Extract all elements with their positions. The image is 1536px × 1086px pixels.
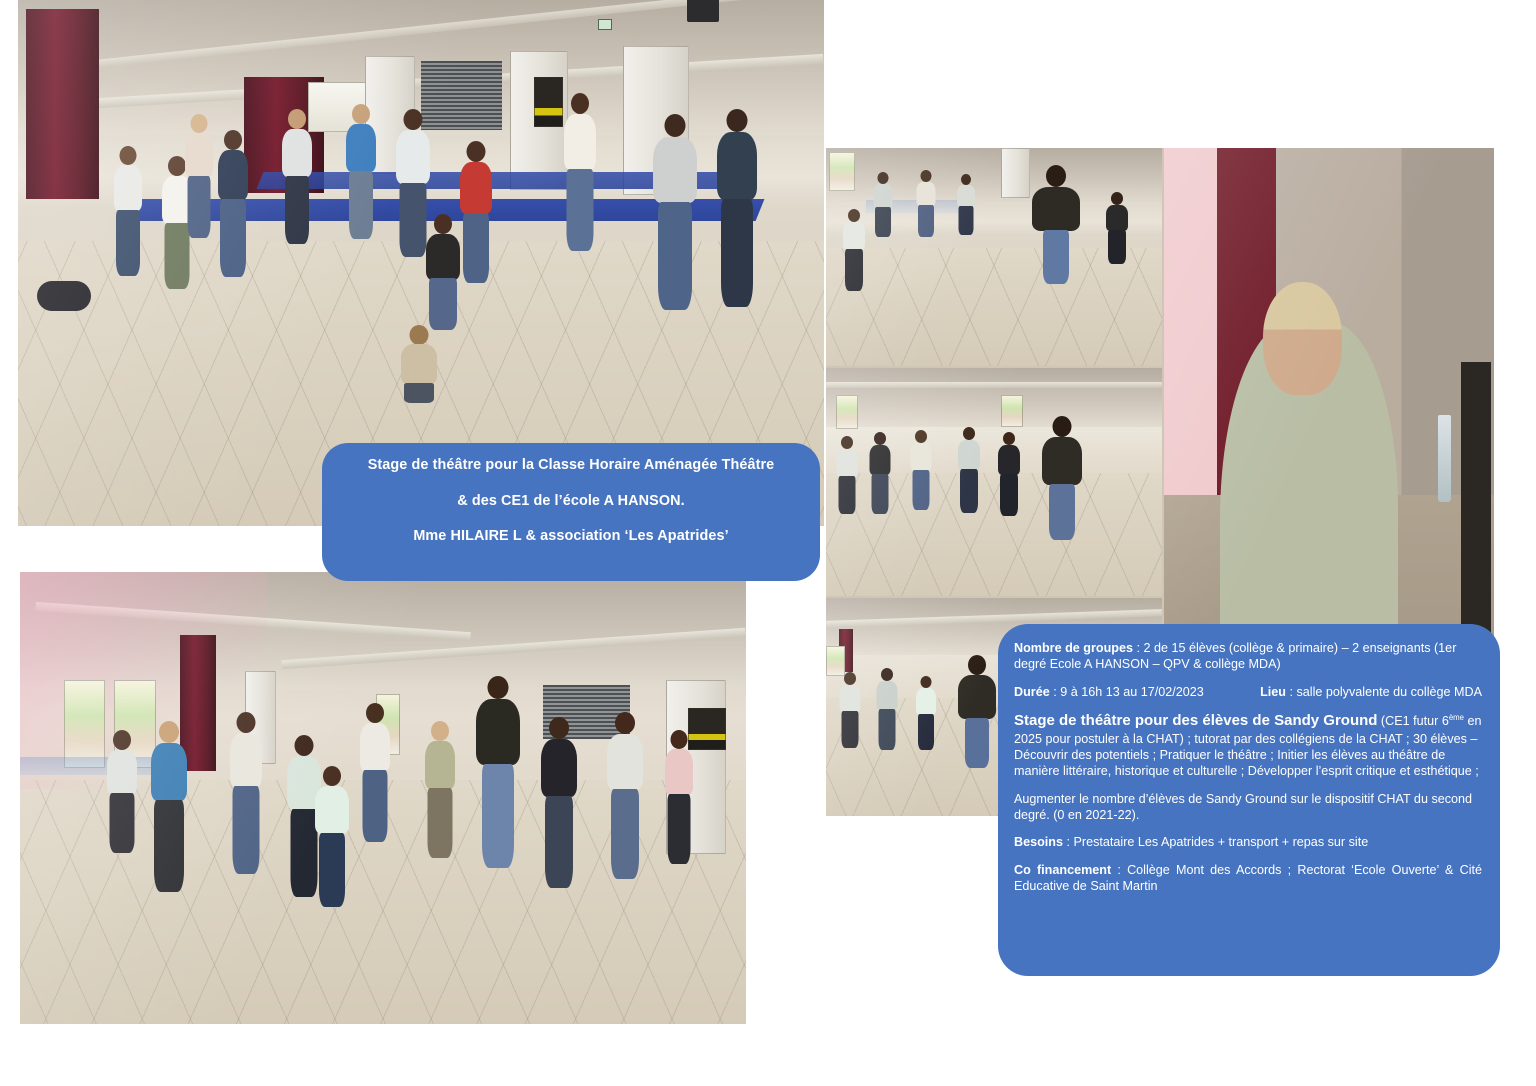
person-figure (179, 114, 219, 244)
person-figure (535, 717, 583, 897)
exit-sign-icon (598, 19, 612, 29)
person-figure (1102, 192, 1132, 264)
person-figure (907, 430, 935, 510)
person-figure (419, 721, 461, 869)
person-figure (870, 172, 896, 238)
caption-line-2: & des CE1 de l’école A HANSON. (344, 493, 798, 510)
person-figure (223, 712, 269, 882)
person-figure (913, 170, 939, 238)
dance-rehearsal-photo (20, 572, 746, 1024)
groupes-label: Nombre de groupes (1014, 641, 1133, 655)
person-figure (711, 109, 763, 317)
caption-line-3: Mme HILAIRE L & association ‘Les Apatrid… (344, 528, 798, 545)
person-figure (397, 325, 441, 403)
person-figure (1028, 165, 1084, 285)
hall-window (829, 152, 855, 191)
person-figure (954, 174, 978, 236)
collage-cell-top (826, 148, 1162, 366)
water-bottle-icon (1438, 415, 1451, 502)
stage-body-1: (CE1 futur 6 (1377, 714, 1448, 728)
duree-group: Durée : 9 à 16h 13 au 17/02/2023 (1014, 684, 1204, 700)
person-figure (954, 427, 984, 513)
groupes-row: Nombre de groupes : 2 de 15 élèves (coll… (1014, 640, 1482, 673)
cofinancement-label: Co financement (1014, 863, 1111, 877)
info-panel: Nombre de groupes : 2 de 15 élèves (coll… (998, 624, 1500, 976)
person-figure (470, 676, 526, 876)
person-figure (143, 721, 195, 899)
duree-label: Durée (1014, 685, 1050, 699)
person-figure (659, 730, 699, 872)
caption-box: Stage de théâtre pour la Classe Horaire … (322, 443, 820, 581)
stage-paragraph: Stage de théâtre pour des élèves de Sand… (1014, 711, 1482, 780)
person-figure (601, 712, 649, 888)
lieu-group: Lieu : salle polyvalente du collège MDA (1260, 684, 1482, 700)
person-figure (340, 104, 382, 254)
person-figure (839, 209, 869, 293)
person-figure (866, 432, 894, 514)
caption-line-1: Stage de théâtre pour la Classe Horaire … (344, 457, 798, 474)
stage-curtain (26, 9, 99, 199)
person-figure (1038, 416, 1086, 540)
person-figure (354, 703, 396, 853)
person-figure (276, 109, 318, 259)
person-figure (913, 676, 939, 750)
person-figure (34, 273, 94, 319)
person-figure (647, 114, 703, 320)
lieu-value: : salle polyvalente du collège MDA (1286, 685, 1482, 699)
collage-cell-middle (826, 368, 1162, 596)
besoins-value: : Prestataire Les Apatrides + transport … (1063, 835, 1368, 849)
person-figure (558, 93, 602, 265)
instructor-head (1263, 282, 1342, 396)
besoins-label: Besoins (1014, 835, 1063, 849)
ceiling-beam-icon (826, 382, 1162, 388)
speaker-box-icon (687, 0, 719, 22)
poster-canvas: Stage de théâtre pour la Classe Horaire … (0, 0, 1536, 1086)
duree-value: : 9 à 16h 13 au 17/02/2023 (1050, 685, 1204, 699)
stage-body-sup: ème (1449, 713, 1464, 722)
person-figure (954, 655, 1000, 767)
duree-lieu-row: Durée : 9 à 16h 13 au 17/02/2023 Lieu : … (1014, 684, 1482, 700)
hall-door (1001, 148, 1030, 198)
person-figure (421, 214, 465, 334)
person-figure (310, 766, 354, 916)
person-figure (836, 672, 864, 748)
person-figure (833, 436, 861, 514)
person-figure (994, 432, 1024, 516)
hall-window (1001, 395, 1023, 427)
person-figure (100, 730, 144, 860)
stage-title: Stage de théâtre pour des élèves de Sand… (1014, 712, 1377, 729)
lieu-label: Lieu (1260, 685, 1286, 699)
augmenter-paragraph: Augmenter le nombre d’élèves de Sandy Gr… (1014, 791, 1482, 824)
hall-window (836, 395, 858, 429)
besoins-row: Besoins : Prestataire Les Apatrides + tr… (1014, 834, 1482, 850)
cofinancement-row: Co financement : Collège Mont des Accord… (1014, 862, 1482, 895)
person-figure (107, 146, 149, 296)
person-figure (873, 668, 901, 750)
